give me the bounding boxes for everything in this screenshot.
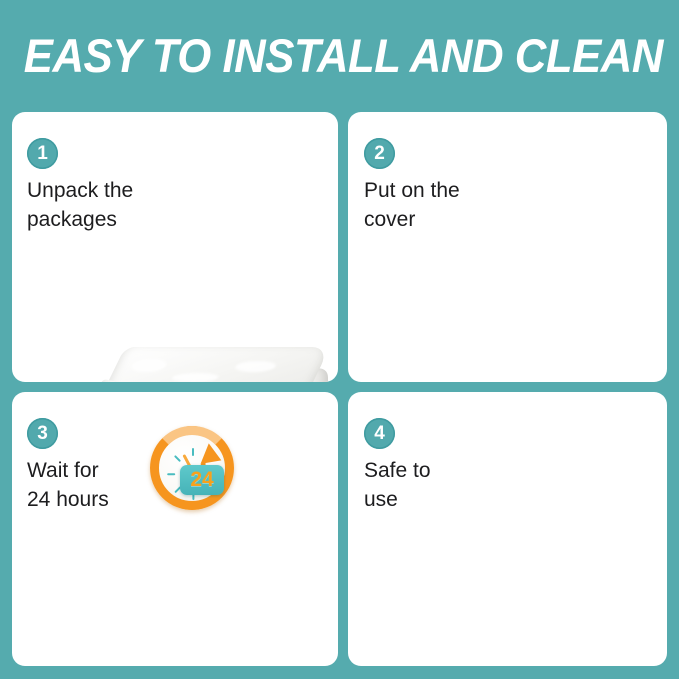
clock-24-hours-icon: 24 — [148, 420, 228, 500]
package-crease — [170, 373, 220, 382]
step-card-1 — [12, 112, 338, 382]
step-card-4 — [348, 392, 667, 666]
step-badge-3: 3 — [27, 418, 58, 449]
clock-tick — [167, 473, 175, 475]
step-badge-2: 2 — [364, 138, 395, 169]
step-badge-1: 1 — [27, 138, 58, 169]
clock-24-badge: 24 — [180, 465, 224, 495]
step-badge-4: 4 — [364, 418, 395, 449]
infographic-root: EASY TO INSTALL AND CLEAN 1 Unpack the p… — [0, 0, 679, 679]
page-title: EASY TO INSTALL AND CLEAN — [24, 30, 655, 82]
compressed-foam-package-image — [92, 347, 337, 382]
clock-tick — [192, 448, 194, 456]
clock-tick — [174, 455, 181, 462]
step-caption-2: Put on the cover — [364, 176, 524, 234]
step-caption-1: Unpack the packages — [27, 176, 207, 234]
package-crease — [129, 359, 169, 372]
step-card-2 — [348, 112, 667, 382]
step-caption-4: Safe to use — [364, 456, 514, 514]
package-crease — [233, 361, 278, 372]
package-top-face — [95, 347, 330, 382]
